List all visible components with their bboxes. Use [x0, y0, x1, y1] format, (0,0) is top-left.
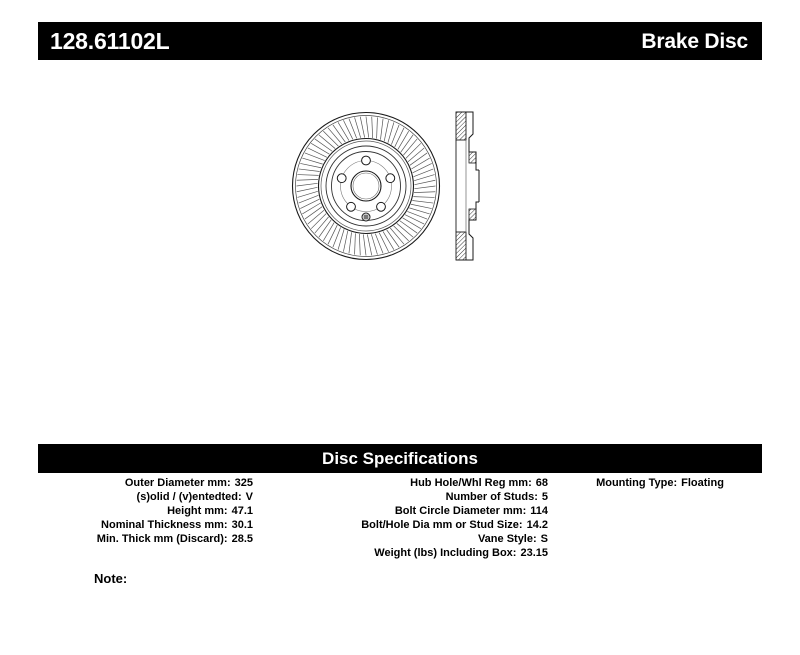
brake-disc-side-profile-view: [456, 112, 479, 260]
spec-value: S: [537, 532, 548, 546]
spec-row: Min. Thick mm (Discard): 28.5: [38, 532, 253, 546]
spec-label: Outer Diameter mm:: [125, 476, 231, 490]
spec-label: (s)olid / (v)entedted:: [137, 490, 242, 504]
spec-value: V: [242, 490, 253, 504]
spec-value: 28.5: [228, 532, 253, 546]
spec-label: Hub Hole/Whl Reg mm:: [410, 476, 532, 490]
spec-value: 30.1: [228, 518, 253, 532]
spec-value: 5: [538, 490, 548, 504]
vane-ticks: [297, 117, 436, 256]
spec-row: Height mm: 47.1: [38, 504, 253, 518]
spec-title-label: Disc Specifications: [322, 450, 478, 467]
spec-row: Outer Diameter mm: 325: [38, 476, 253, 490]
spec-row: Number of Studs: 5: [263, 490, 548, 504]
note-value: [127, 571, 133, 587]
spec-value: 23.15: [516, 546, 548, 560]
spec-label: Min. Thick mm (Discard):: [97, 532, 228, 546]
spec-label: Vane Style:: [478, 532, 537, 546]
spec-label: Height mm:: [167, 504, 228, 518]
brake-disc-front-view: [293, 113, 440, 260]
spec-value: 325: [231, 476, 253, 490]
spec-row: Hub Hole/Whl Reg mm: 68: [263, 476, 548, 490]
spec-value: 47.1: [228, 504, 253, 518]
spec-column-right: Mounting Type: Floating: [558, 476, 762, 490]
spec-row: Nominal Thickness mm: 30.1: [38, 518, 253, 532]
spec-value: 14.2: [523, 518, 548, 532]
spec-value: 114: [526, 504, 548, 518]
spec-label: Bolt/Hole Dia mm or Stud Size:: [361, 518, 522, 532]
spec-label: Nominal Thickness mm:: [101, 518, 228, 532]
spec-row: Bolt Circle Diameter mm: 114: [263, 504, 548, 518]
spec-row: Vane Style: S: [263, 532, 548, 546]
spec-row: (s)olid / (v)entedted: V: [38, 490, 253, 504]
spec-column-middle: Hub Hole/Whl Reg mm: 68 Number of Studs:…: [263, 476, 548, 560]
locating-pin-hole: [362, 213, 370, 221]
spec-row: Mounting Type: Floating: [558, 476, 762, 490]
stud-holes: [337, 156, 394, 211]
spec-label: Mounting Type:: [596, 476, 677, 490]
spec-title-bar: Disc Specifications: [38, 444, 762, 473]
spec-row: Weight (lbs) Including Box: 23.15: [263, 546, 548, 560]
brake-disc-drawing: [270, 100, 510, 280]
spec-label: Bolt Circle Diameter mm:: [395, 504, 526, 518]
spec-column-left: Outer Diameter mm: 325 (s)olid / (v)ente…: [38, 476, 253, 546]
spec-value: 68: [532, 476, 548, 490]
spec-label: Number of Studs:: [446, 490, 538, 504]
spec-label: Weight (lbs) Including Box:: [374, 546, 516, 560]
spec-value: Floating: [677, 476, 724, 490]
note-label: Note:: [94, 571, 127, 587]
spec-row: Bolt/Hole Dia mm or Stud Size: 14.2: [263, 518, 548, 532]
part-number-label: 128.61102L: [50, 30, 170, 53]
product-type-label: Brake Disc: [641, 31, 748, 52]
header-bar: 128.61102L Brake Disc: [38, 22, 762, 60]
note-row: Note:: [94, 571, 133, 587]
specifications-table: Outer Diameter mm: 325 (s)olid / (v)ente…: [38, 476, 762, 576]
